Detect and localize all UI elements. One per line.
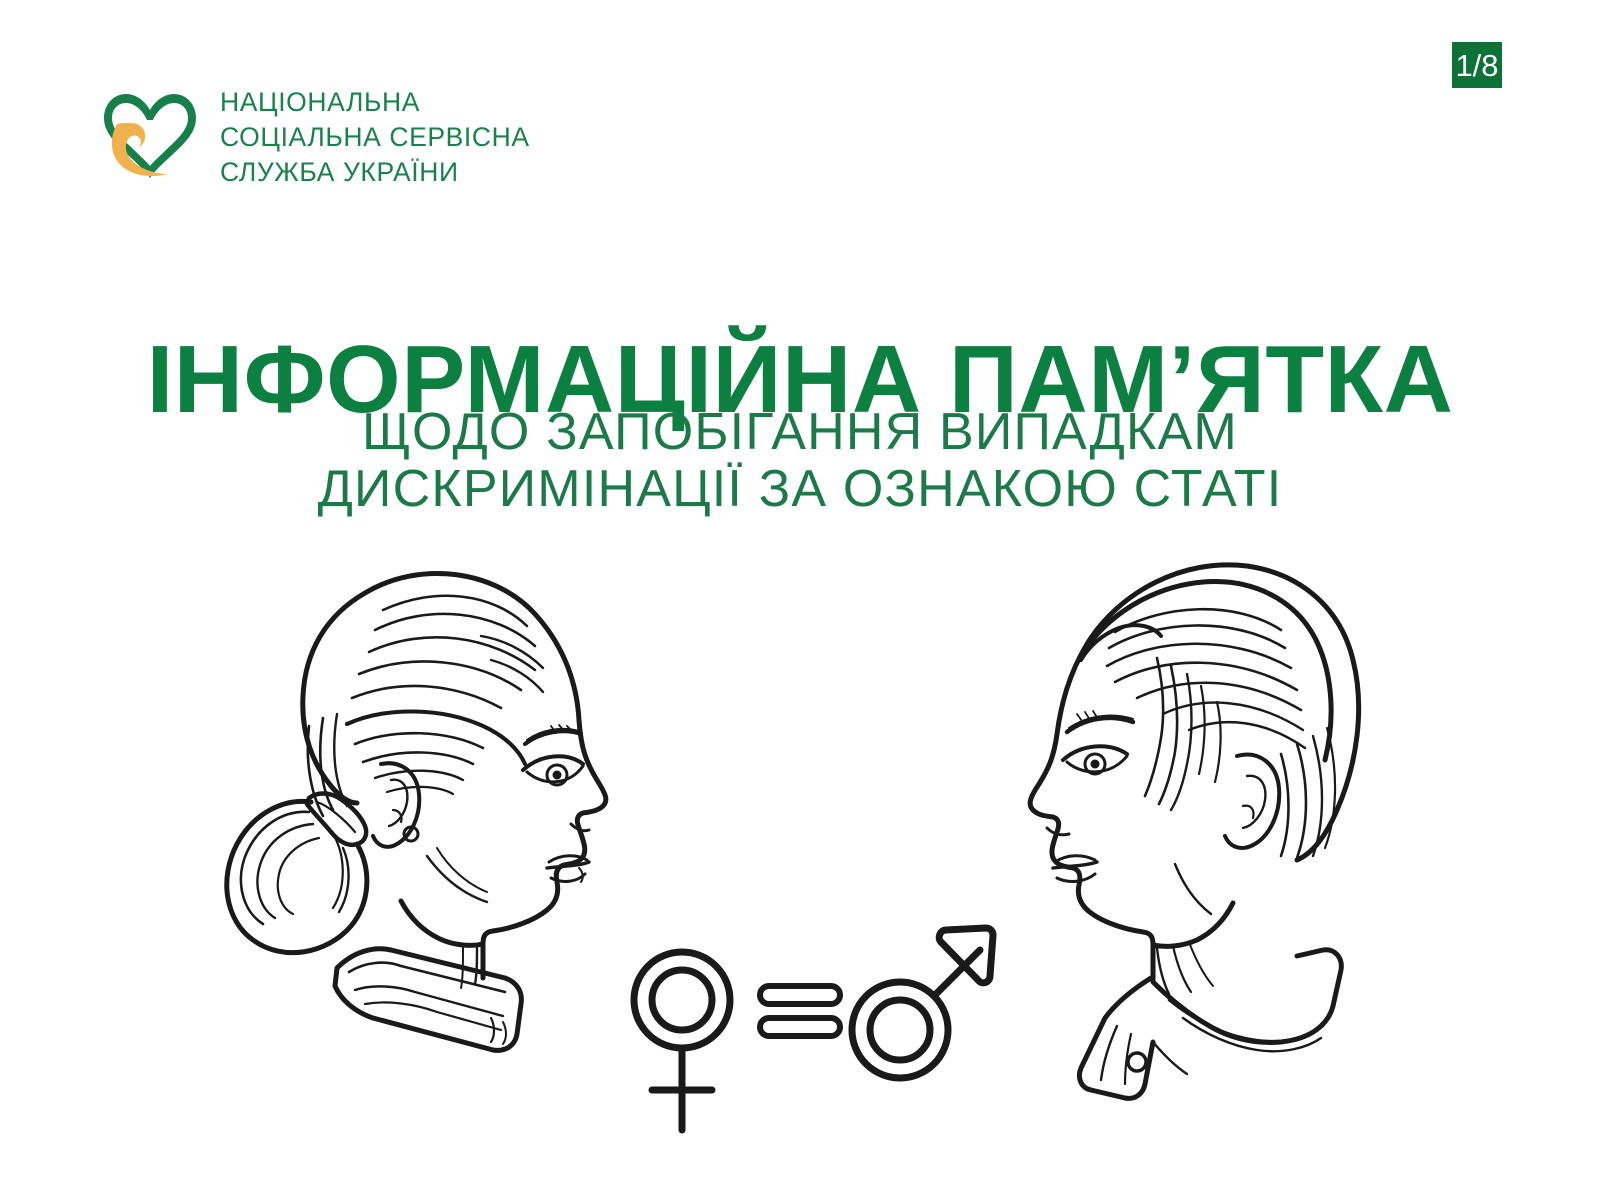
mars-symbol	[852, 928, 993, 1078]
page-subtitle: ЩОДО ЗАПОБІГАННЯ ВИПАДКАМ ДИСКРИМІНАЦІЇ …	[0, 404, 1600, 518]
slide-root: 1/8 НАЦІОНАЛЬНА СОЦІАЛЬНА СЕРВІСНА СЛУЖБ…	[0, 0, 1600, 1200]
venus-symbol	[634, 952, 730, 1130]
logo-line-2: СОЦІАЛЬНА СЕРВІСНА	[220, 121, 530, 154]
page-counter-badge: 1/8	[1452, 42, 1502, 88]
brand-logo: НАЦІОНАЛЬНА СОЦІАЛЬНА СЕРВІСНА СЛУЖБА УК…	[96, 82, 530, 190]
woman-profile-illustration	[205, 548, 635, 1118]
gender-equality-symbols	[600, 878, 1000, 1140]
man-profile-illustration	[985, 548, 1400, 1118]
subtitle-line-2: ДИСКРИМІНАЦІЇ ЗА ОЗНАКОЮ СТАТІ	[0, 461, 1600, 518]
brand-logo-text: НАЦІОНАЛЬНА СОЦІАЛЬНА СЕРВІСНА СЛУЖБА УК…	[220, 84, 530, 189]
equals-sign	[760, 986, 840, 1036]
logo-line-1: НАЦІОНАЛЬНА	[220, 86, 530, 119]
logo-line-3: СЛУЖБА УКРАЇНИ	[220, 156, 530, 189]
subtitle-line-1: ЩОДО ЗАПОБІГАННЯ ВИПАДКАМ	[0, 404, 1600, 461]
heart-hand-logo-icon	[96, 82, 204, 190]
